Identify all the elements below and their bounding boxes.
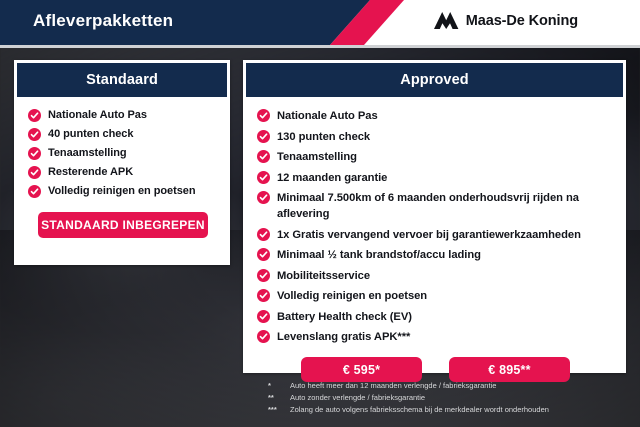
list-item: Battery Health check (EV) [257,309,614,325]
footnote-text: Zolang de auto volgens fabrieksschema bi… [290,404,549,415]
list-item: Volledig reinigen en poetsen [257,288,614,304]
footnotes-block: * Auto heeft meer dan 12 maanden verleng… [268,380,628,416]
feature-label: Nationale Auto Pas [277,108,378,124]
feature-label: Minimaal ½ tank brandstof/accu lading [277,247,481,263]
footnote-double-asterisk: ** Auto zonder verlengde / fabrieksgaran… [268,392,628,403]
standaard-inbegrepen-button[interactable]: STANDAARD INBEGREPEN [38,212,208,238]
check-circle-icon [28,147,41,160]
feature-label: Tenaamstelling [48,146,127,161]
feature-list-approved: Nationale Auto Pas 130 punten check Tena… [257,108,614,345]
check-circle-icon [28,128,41,141]
list-item: 40 punten check [28,127,218,142]
card-body-standaard: Nationale Auto Pas 40 punten check Tenaa… [14,97,230,238]
feature-label: Minimaal 7.500km of 6 maanden onderhouds… [277,190,614,222]
list-item: Levenslang gratis APK*** [257,329,614,345]
feature-label: Tenaamstelling [277,149,357,165]
feature-label: Nationale Auto Pas [48,108,147,123]
feature-label: Resterende APK [48,165,133,180]
check-circle-icon [257,269,270,282]
list-item: Tenaamstelling [28,146,218,161]
feature-label: 1x Gratis vervangend vervoer bij garanti… [277,227,581,243]
list-item: Nationale Auto Pas [257,108,614,124]
feature-label: Mobiliteitsservice [277,268,370,284]
check-circle-icon [28,185,41,198]
page-title: Afleverpakketten [33,11,173,31]
feature-label: Volledig reinigen en poetsen [277,288,427,304]
list-item: Tenaamstelling [257,149,614,165]
card-header-standaard: Standaard [17,63,227,97]
delivery-packages-slide: Afleverpakketten Maas-De Koning Standaar… [0,0,640,427]
package-card-approved: Approved Nationale Auto Pas 130 punten c… [243,60,626,373]
price-button-895[interactable]: € 895** [449,357,570,382]
feature-label: 40 punten check [48,127,133,142]
list-item: 1x Gratis vervangend vervoer bij garanti… [257,227,614,243]
list-item: Minimaal 7.500km of 6 maanden onderhouds… [257,190,614,222]
price-button-595[interactable]: € 595* [301,357,422,382]
brand-name: Maas-De Koning [466,13,578,29]
list-item: Resterende APK [28,165,218,180]
check-circle-icon [28,166,41,179]
check-circle-icon [28,109,41,122]
price-button-row: € 595* € 895** [257,357,614,382]
footnote-marker: ** [268,393,290,402]
list-item: 12 maanden garantie [257,170,614,186]
card-header-approved: Approved [246,63,623,97]
card-title-approved: Approved [400,72,468,88]
check-circle-icon [257,228,270,241]
check-circle-icon [257,191,270,204]
footnote-text: Auto heeft meer dan 12 maanden verlengde… [290,380,496,391]
check-circle-icon [257,289,270,302]
list-item: Mobiliteitsservice [257,268,614,284]
check-circle-icon [257,130,270,143]
footnote-text: Auto zonder verlengde / fabrieksgarantie [290,392,425,403]
card-body-approved: Nationale Auto Pas 130 punten check Tena… [243,97,626,382]
feature-label: 12 maanden garantie [277,170,387,186]
brand-lockup: Maas-De Koning [433,11,578,30]
feature-list-standaard: Nationale Auto Pas 40 punten check Tenaa… [28,108,218,199]
footnote-single-asterisk: * Auto heeft meer dan 12 maanden verleng… [268,380,628,391]
feature-label: Levenslang gratis APK*** [277,329,410,345]
list-item: Nationale Auto Pas [28,108,218,123]
check-circle-icon [257,248,270,261]
check-circle-icon [257,310,270,323]
check-circle-icon [257,109,270,122]
footnote-marker: *** [268,405,290,414]
check-circle-icon [257,330,270,343]
maas-de-koning-m-logo-icon [433,11,459,30]
list-item: 130 punten check [257,129,614,145]
footnote-marker: * [268,381,290,390]
feature-label: Battery Health check (EV) [277,309,412,325]
list-item: Volledig reinigen en poetsen [28,184,218,199]
header-divider [0,45,640,48]
feature-label: 130 punten check [277,129,370,145]
card-title-standaard: Standaard [86,72,158,88]
page-header: Afleverpakketten Maas-De Koning [0,0,640,45]
footnote-triple-asterisk: *** Zolang de auto volgens fabrieksschem… [268,404,628,415]
package-card-standaard: Standaard Nationale Auto Pas 40 punten c… [14,60,230,265]
check-circle-icon [257,150,270,163]
list-item: Minimaal ½ tank brandstof/accu lading [257,247,614,263]
check-circle-icon [257,171,270,184]
feature-label: Volledig reinigen en poetsen [48,184,196,199]
